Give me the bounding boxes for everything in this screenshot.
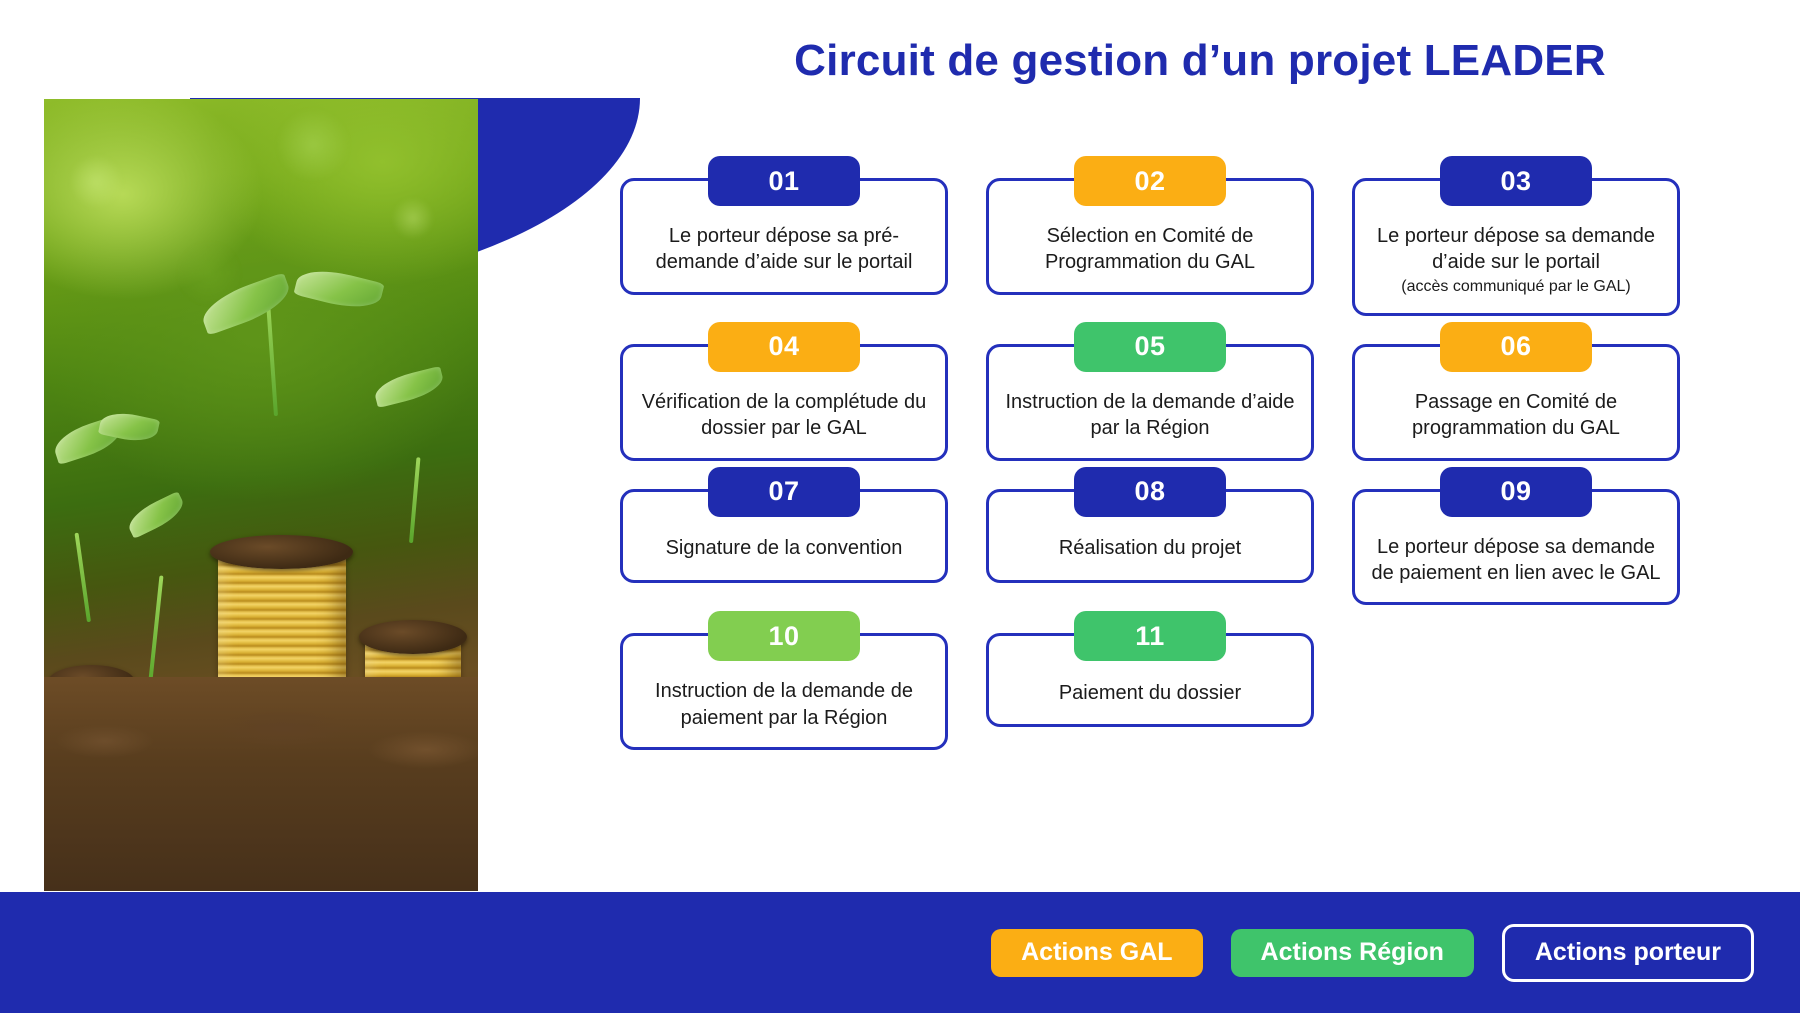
- step-text-07: Signature de la convention: [666, 535, 903, 561]
- soil-mound-4: [359, 620, 467, 654]
- step-slot-09: 09 Le porteur dépose sa demande de paiem…: [1352, 489, 1680, 606]
- step-text-11: Paiement du dossier: [1059, 680, 1241, 706]
- step-text-03: Le porteur dépose sa demande d’aide sur …: [1369, 223, 1663, 276]
- legend-footer-bar: Actions GAL Actions Région Actions porte…: [0, 892, 1800, 1013]
- step-badge-02: 02: [1074, 156, 1226, 206]
- step-card-01[interactable]: 01 Le porteur dépose sa pré-demande d’ai…: [620, 178, 948, 295]
- step-badge-04: 04: [708, 322, 860, 372]
- steps-row-3: 07 Signature de la convention 08 Réalisa…: [620, 489, 1780, 606]
- step-text-01: Le porteur dépose sa pré-demande d’aide …: [637, 223, 931, 276]
- step-text-05: Instruction de la demande d’aide par la …: [1003, 389, 1297, 442]
- step-text-09: Le porteur dépose sa demande de paiement…: [1369, 534, 1663, 587]
- step-badge-10: 10: [708, 611, 860, 661]
- step-slot-11: 11 Paiement du dossier: [986, 633, 1314, 750]
- step-badge-05: 05: [1074, 322, 1226, 372]
- step-card-03[interactable]: 03 Le porteur dépose sa demande d’aide s…: [1352, 178, 1680, 316]
- steps-row-1: 01 Le porteur dépose sa pré-demande d’ai…: [620, 178, 1780, 316]
- step-slot-02: 02 Sélection en Comité de Programmation …: [986, 178, 1314, 316]
- step-slot-06: 06 Passage en Comité de programmation du…: [1352, 344, 1680, 461]
- page-title: Circuit de gestion d’un projet LEADER: [640, 36, 1760, 86]
- step-slot-01: 01 Le porteur dépose sa pré-demande d’ai…: [620, 178, 948, 316]
- step-text-06: Passage en Comité de programmation du GA…: [1369, 389, 1663, 442]
- step-card-04[interactable]: 04 Vérification de la complétude du doss…: [620, 344, 948, 461]
- step-card-10[interactable]: 10 Instruction de la demande de paiement…: [620, 633, 948, 750]
- step-card-08[interactable]: 08 Réalisation du projet: [986, 489, 1314, 583]
- step-text-08: Réalisation du projet: [1059, 535, 1241, 561]
- step-subtext-03: (accès communiqué par le GAL): [1401, 277, 1630, 297]
- step-card-02[interactable]: 02 Sélection en Comité de Programmation …: [986, 178, 1314, 295]
- step-slot-10: 10 Instruction de la demande de paiement…: [620, 633, 948, 750]
- step-slot-04: 04 Vérification de la complétude du doss…: [620, 344, 948, 461]
- step-slot-03: 03 Le porteur dépose sa demande d’aide s…: [1352, 178, 1680, 316]
- photo-soil-layer: [44, 677, 478, 891]
- step-card-09[interactable]: 09 Le porteur dépose sa demande de paiem…: [1352, 489, 1680, 606]
- hero-photo-coins-and-sprouts: [44, 99, 478, 891]
- step-card-05[interactable]: 05 Instruction de la demande d’aide par …: [986, 344, 1314, 461]
- steps-grid: 01 Le porteur dépose sa pré-demande d’ai…: [620, 178, 1780, 778]
- legend-actions-region[interactable]: Actions Région: [1231, 929, 1474, 977]
- step-badge-09: 09: [1440, 467, 1592, 517]
- step-slot-08: 08 Réalisation du projet: [986, 489, 1314, 606]
- step-text-02: Sélection en Comité de Programmation du …: [1003, 223, 1297, 276]
- step-badge-03: 03: [1440, 156, 1592, 206]
- step-card-11[interactable]: 11 Paiement du dossier: [986, 633, 1314, 727]
- step-badge-11: 11: [1074, 611, 1226, 661]
- legend-actions-gal[interactable]: Actions GAL: [991, 929, 1202, 977]
- step-slot-07: 07 Signature de la convention: [620, 489, 948, 606]
- soil-mound-3: [210, 535, 353, 569]
- legend-actions-porteur[interactable]: Actions porteur: [1502, 924, 1754, 982]
- step-text-10: Instruction de la demande de paiement pa…: [637, 678, 931, 731]
- step-badge-07: 07: [708, 467, 860, 517]
- steps-row-4: 10 Instruction de la demande de paiement…: [620, 633, 1780, 750]
- step-badge-08: 08: [1074, 467, 1226, 517]
- step-text-04: Vérification de la complétude du dossier…: [637, 389, 931, 442]
- steps-row-2: 04 Vérification de la complétude du doss…: [620, 344, 1780, 461]
- step-slot-05: 05 Instruction de la demande d’aide par …: [986, 344, 1314, 461]
- step-card-06[interactable]: 06 Passage en Comité de programmation du…: [1352, 344, 1680, 461]
- step-badge-06: 06: [1440, 322, 1592, 372]
- step-card-07[interactable]: 07 Signature de la convention: [620, 489, 948, 583]
- step-badge-01: 01: [708, 156, 860, 206]
- slide-canvas: Circuit de gestion d’un projet LEADER 01…: [0, 0, 1800, 1013]
